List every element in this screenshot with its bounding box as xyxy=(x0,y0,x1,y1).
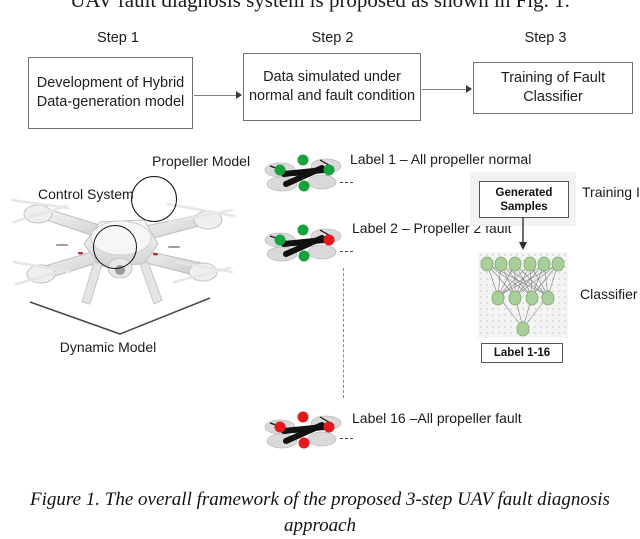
network-node xyxy=(538,257,550,271)
network-node xyxy=(542,291,554,305)
step-1-box[interactable]: Development of Hybrid Data-generation mo… xyxy=(28,57,193,129)
network-node xyxy=(509,257,521,271)
mini-drone-label-2 xyxy=(258,218,350,268)
propeller-model-annotation: Propeller Model xyxy=(152,152,248,170)
network-node xyxy=(517,322,529,336)
dynamic-model-annotation: Dynamic Model xyxy=(58,338,158,356)
training-input-note: Training Input xyxy=(582,183,640,201)
rotor-indicator xyxy=(298,412,309,423)
leader-line-label-2 xyxy=(340,251,353,252)
step-1-label: Step 1 xyxy=(28,30,208,46)
mini-drone-label-16 xyxy=(258,405,350,455)
step-3-box[interactable]: Training of Fault Classifier xyxy=(473,62,633,114)
network-node xyxy=(526,291,538,305)
network-node xyxy=(552,257,564,271)
right-arrow-icon xyxy=(236,91,242,99)
generated-samples-box[interactable]: Generated Samples xyxy=(479,181,569,218)
control-system-annotation: Control System xyxy=(38,185,122,203)
arrow-2-line xyxy=(422,89,467,90)
fault-label-16-text: Label 16 –All propeller fault xyxy=(352,409,470,427)
rotor-indicator xyxy=(299,438,310,449)
fault-label-2-text: Label 2 – Propeller 2 fault xyxy=(352,219,474,237)
arrow-1-line xyxy=(194,95,237,96)
leader-line-label-16 xyxy=(340,438,353,439)
rotor-indicator xyxy=(275,165,286,176)
fault-label-1-text: Label 1 – All propeller normal xyxy=(350,150,466,168)
rotor-indicator xyxy=(324,235,335,246)
step-2-box[interactable]: Data simulated under normal and fault co… xyxy=(243,53,421,121)
rotor-indicator xyxy=(299,251,310,262)
network-node xyxy=(524,257,536,271)
vertical-dashed-ellipsis-icon xyxy=(343,268,344,398)
figure-canvas: UAV fault diagnosis system is proposed a… xyxy=(0,0,640,534)
control-system-circle xyxy=(93,225,137,269)
dynamic-model-bracket xyxy=(20,292,220,337)
network-node xyxy=(492,291,504,305)
network-node xyxy=(495,257,507,271)
network-node xyxy=(481,257,493,271)
right-arrow-icon xyxy=(466,85,472,93)
rotor-indicator xyxy=(298,225,309,236)
rotor-indicator xyxy=(298,155,309,166)
neural-network-diagram xyxy=(478,252,568,338)
network-node xyxy=(509,291,521,305)
figure-caption: Figure 1. The overall framework of the p… xyxy=(0,487,640,539)
rotor-indicator xyxy=(299,181,310,192)
down-arrow-icon xyxy=(515,218,531,252)
rotor-indicator xyxy=(275,422,286,433)
leader-line-label-1 xyxy=(340,182,353,183)
step-2-label: Step 2 xyxy=(240,30,425,46)
mini-drone-label-1 xyxy=(258,148,350,198)
rotor-indicator xyxy=(324,422,335,433)
body-text-clipped: UAV fault diagnosis system is proposed a… xyxy=(0,0,640,13)
output-label-box[interactable]: Label 1-16 xyxy=(481,343,563,363)
propeller-model-circle xyxy=(131,176,177,222)
rotor-indicator xyxy=(275,235,286,246)
classifier-note: Classifier xyxy=(580,285,640,303)
rotor-indicator xyxy=(324,165,335,176)
step-3-label: Step 3 xyxy=(458,30,633,46)
